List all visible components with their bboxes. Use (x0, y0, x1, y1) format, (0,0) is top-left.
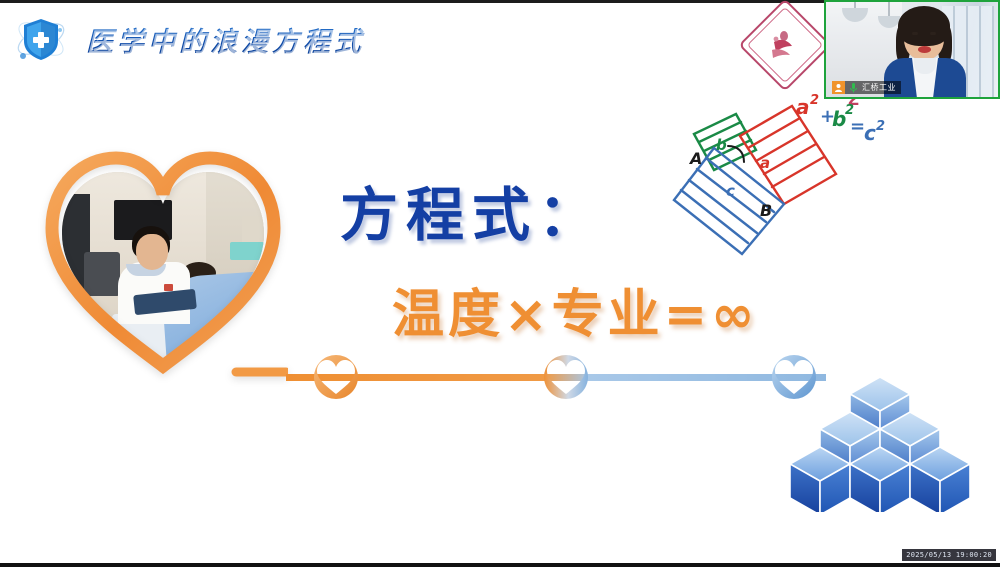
formula-c-exp: 2 (876, 119, 885, 134)
page-title: 医学中的浪漫方程式 (86, 20, 365, 59)
slide-equation: 温度×专业=∞ (392, 272, 758, 347)
webcam-overlay[interactable]: 汇桥工业 (824, 0, 1000, 99)
side-label-b: b (716, 136, 727, 154)
avatar-mouth (918, 46, 931, 53)
formula-equals: = (850, 116, 865, 137)
avatar-hair (898, 6, 950, 46)
side-label-c: c (726, 182, 735, 200)
timeline-node (314, 355, 358, 399)
formula-c: c (864, 121, 876, 145)
avatar-eye-left (912, 32, 918, 35)
slide-headline: 方程式： (340, 168, 604, 252)
seal-figure-icon (766, 28, 800, 62)
progress-timeline (286, 352, 826, 402)
avatar-eye-right (930, 32, 936, 35)
recording-timestamp: 2025/05/13 19:00:20 (902, 549, 996, 561)
heart-frame-outline (40, 150, 288, 386)
formula-a-exp: 2 (810, 93, 819, 108)
heart-photo-frame (40, 150, 288, 386)
slide-header: 医学中的浪漫方程式 (14, 12, 365, 66)
cube-pyramid-icon (790, 372, 970, 512)
vertex-label-b: B (760, 201, 772, 220)
pythagorean-theorem-diagram: A B b a c a 2 + b 2 = c 2 (668, 88, 904, 268)
vertex-label-a: A (688, 149, 702, 168)
bottom-letterbox-strip (0, 563, 1000, 567)
formula-a: a (796, 95, 810, 119)
medical-shield-icon (14, 12, 68, 66)
slide-stage: 医学中的浪漫方程式 佛 广 FOSHAN GUANGDONG 2 (0, 0, 1000, 567)
timeline-node (544, 355, 588, 399)
side-label-a: a (760, 154, 770, 172)
